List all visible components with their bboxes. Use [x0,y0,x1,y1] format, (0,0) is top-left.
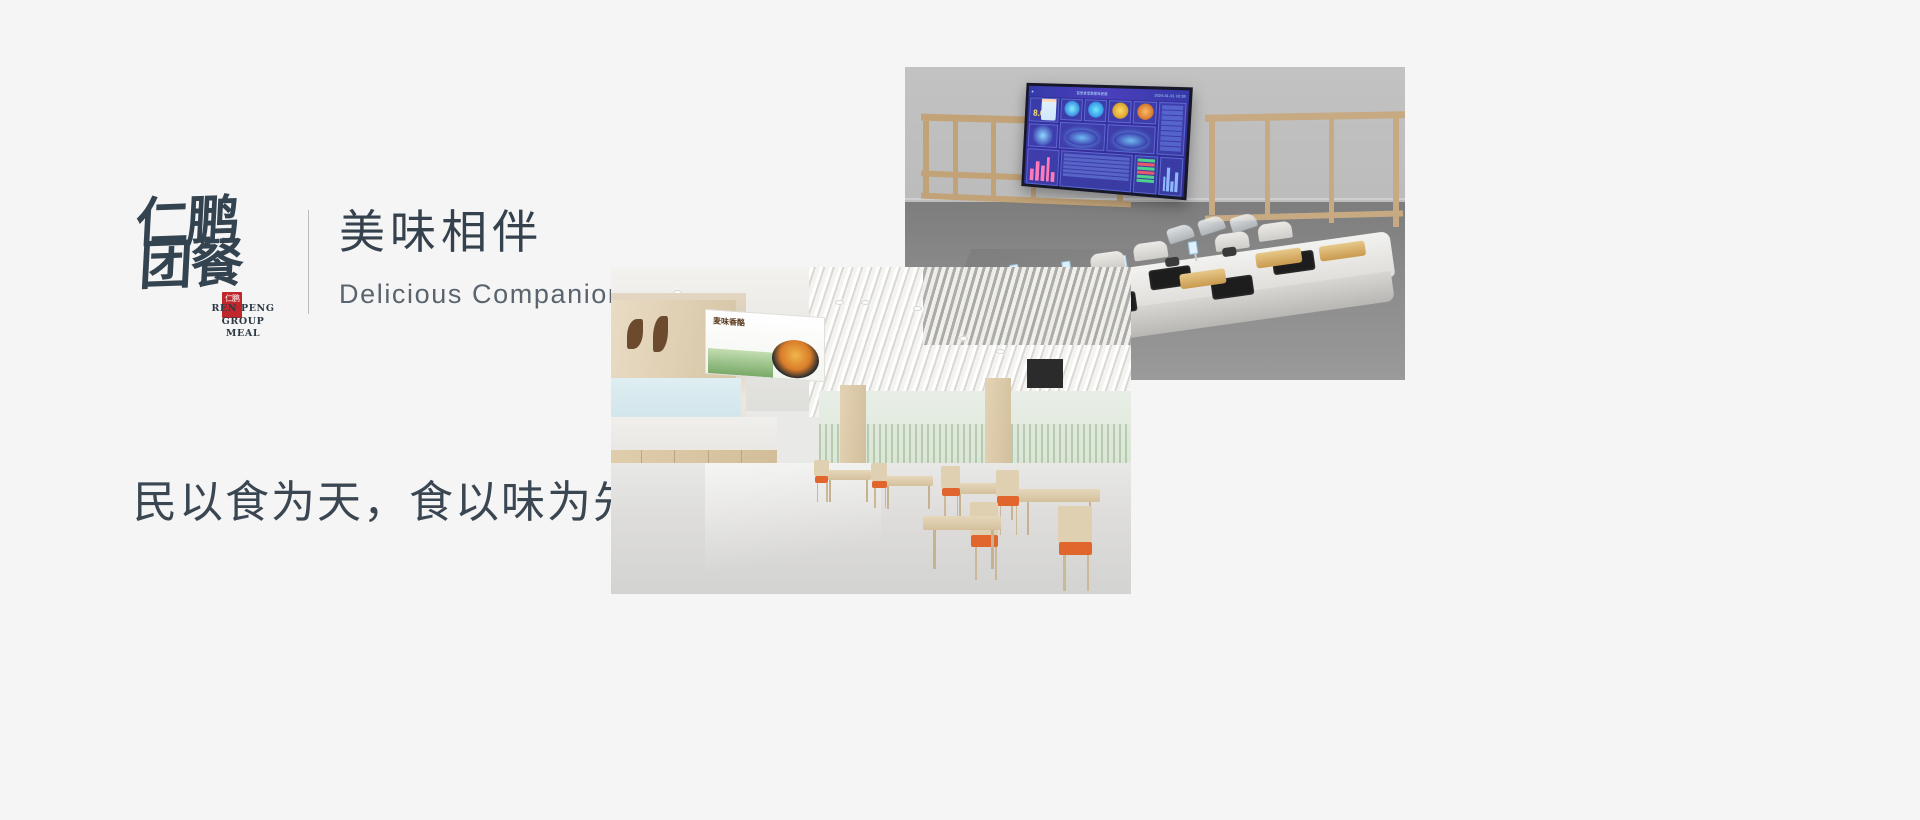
dashboard-ring-chart-2 [1106,125,1156,155]
canteen-wall-display [1027,359,1063,388]
chair-leg [817,483,819,503]
logo-english-line3: MEAL [206,328,280,341]
ceiling-downlight [861,300,870,305]
dashboard-screen-content: ■ 智慧食堂数据驾驶舱 2024-01-01 10:30 8.0 [1024,86,1189,197]
canteen-floor-reflection [705,463,882,594]
table-leg [887,486,889,509]
dining-chair [971,535,999,547]
chair-back [814,460,830,476]
dashboard-bar-chart-right [1158,157,1184,197]
chair-leg [995,547,997,580]
signboard-dish-photo [771,338,818,379]
dining-chair [942,488,960,497]
dashboard-gauge-2 [1084,99,1108,122]
digital-price-tag [1188,241,1199,255]
chair-leg [975,547,977,580]
signboard-green-graphic [708,348,773,378]
logo-english-line2: GROUP [206,316,280,329]
dashboard-gauge-1 [1060,98,1083,121]
ren-peng-group-meal-logo: 仁鹏 团餐 仁鹏 REN PENG GROUP MEAL [130,200,280,340]
chair-leg [1087,555,1090,591]
dashboard-title: 智慧食堂数据驾驶舱 [1077,90,1108,96]
chair-back [1058,506,1092,542]
logo-english-text: REN PENG GROUP MEAL [206,303,280,341]
logo-english-line1: REN PENG [206,303,280,316]
table-leg [866,480,868,503]
dashboard-bar-chart-left [1026,148,1060,186]
ceiling-downlight [996,349,1005,354]
dashboard-grid: 8.0 [1026,97,1187,194]
chair-back [996,470,1019,496]
dashboard-ring-row [1059,122,1157,154]
vertical-divider [308,210,309,314]
chair-leg [885,488,887,508]
dining-table [1017,489,1100,502]
dashboard-hexagon-chart [1032,123,1053,147]
dashboard-display-screen: ■ 智慧食堂数据驾驶舱 2024-01-01 10:30 8.0 [1021,83,1193,201]
ceiling-downlight [835,300,844,305]
chair-leg [826,483,828,503]
dining-table [923,516,1001,531]
dashboard-data-table [1060,150,1133,192]
chair-leg [1016,506,1018,535]
table-leg [829,480,831,503]
table-leg [928,486,930,509]
food-stall-signboard: 麦味香酪 [705,309,825,383]
table-leg [933,530,936,569]
dashboard-left-column: 8.0 [1028,97,1060,148]
dashboard-gauge-3 [1108,100,1132,124]
dining-chair [997,496,1019,506]
logo-calligraphy: 仁鹏 团餐 [127,197,283,314]
dashboard-hex-card [1028,123,1058,148]
chair-leg [1063,555,1066,591]
table-leg [1027,502,1029,535]
dining-chair [872,481,887,488]
dashboard-score-card: 8.0 [1029,97,1059,122]
dining-chair [1059,542,1092,555]
chair-leg [874,488,876,508]
dashboard-header-left: ■ [1031,89,1033,93]
canteen-column [840,385,866,470]
food-cover-hood [1257,220,1293,242]
dining-table [824,470,871,480]
dashboard-gauge-row [1060,98,1158,125]
dashboard-right-list [1157,102,1187,156]
brand-block: 仁鹏 团餐 仁鹏 REN PENG GROUP MEAL 美味相伴 Delici… [130,200,680,340]
dining-chair [815,476,829,483]
dashboard-gauge-4 [1133,101,1158,125]
signboard-stall-name: 麦味香酪 [713,315,745,328]
ceiling-downlight [959,336,968,341]
dashboard-status-chips [1133,155,1158,194]
page-title: 美味相伴 [339,204,680,262]
slogan-text: 民以食为天，食以味为先 [133,466,639,530]
dashboard-ring-chart-1 [1059,122,1106,151]
dashboard-avatar [1041,97,1057,120]
ceiling-downlight [913,306,922,311]
dashboard-center-column [1059,98,1158,154]
chair-back [941,466,960,487]
canteen-ceiling-dark-slats [923,267,1131,345]
chair-back [871,463,887,481]
banner-stage: 仁鹏 团餐 仁鹏 REN PENG GROUP MEAL 美味相伴 Delici… [0,0,1920,820]
dining-table [881,476,933,486]
canteen-interior-photo: 麦味香酪 [611,267,1131,594]
table-leg [991,530,994,569]
logo-calligraphy-line2: 团餐 [128,241,281,290]
food-cover-hood [1132,240,1168,262]
dashboard-timestamp: 2024-01-01 10:30 [1154,93,1186,98]
